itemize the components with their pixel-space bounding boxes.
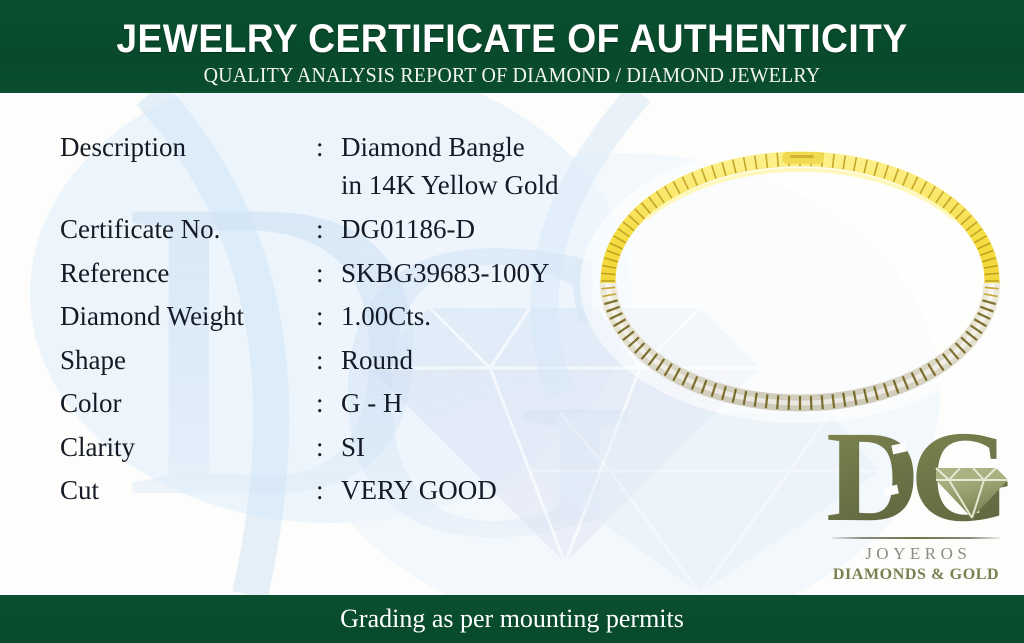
detail-row-certificate-no: Certificate No. : DG01186-D [60, 213, 620, 257]
logo-divider [832, 537, 1000, 539]
detail-separator: : [316, 474, 324, 507]
detail-row-shape: Shape : Round [60, 344, 620, 388]
detail-separator: : [316, 257, 324, 290]
detail-separator: : [316, 131, 324, 164]
detail-row-clarity: Clarity : SI [60, 431, 620, 475]
detail-label: Clarity [60, 431, 135, 464]
bangle-gold-band [608, 159, 992, 403]
page-title: JEWELRY CERTIFICATE OF AUTHENTICITY [36, 17, 988, 61]
dg-monogram: G D [818, 408, 1014, 536]
dg-logo: G D JOYEROS DIAMONDS & GOLD [818, 408, 1014, 586]
detail-value-line2: in 14K Yellow Gold [341, 169, 559, 202]
diamond-bangle-photo [576, 133, 1024, 423]
detail-value: SI [341, 431, 365, 464]
detail-list: Description : Diamond Bangle in 14K Yell… [60, 131, 620, 518]
detail-label: Reference [60, 257, 169, 290]
bangle-diamond-row [608, 281, 992, 403]
detail-value: 1.00Cts. [341, 300, 431, 333]
detail-row-reference: Reference : SKBG39683-100Y [60, 257, 620, 301]
detail-label: Certificate No. [60, 213, 220, 246]
detail-separator: : [316, 431, 324, 464]
detail-separator: : [316, 300, 324, 333]
detail-label: Description [60, 131, 186, 164]
detail-value: DG01186-D [341, 213, 475, 246]
detail-value: G - H [341, 387, 403, 420]
certificate-body: D G [0, 93, 1024, 595]
footer-note: Grading as per mounting permits [0, 603, 1024, 635]
detail-row-color: Color : G - H [60, 387, 620, 431]
logo-letter-d: D [826, 408, 920, 536]
detail-value: Diamond Bangle [341, 131, 525, 164]
logo-brand-name: JOYEROS [818, 544, 1014, 564]
detail-row-cut: Cut : VERY GOOD [60, 474, 620, 518]
detail-value: VERY GOOD [341, 474, 497, 507]
certificate-header: JEWELRY CERTIFICATE OF AUTHENTICITY QUAL… [0, 0, 1024, 93]
jewelry-certificate: JEWELRY CERTIFICATE OF AUTHENTICITY QUAL… [0, 0, 1024, 643]
detail-label: Cut [60, 474, 99, 507]
bangle-setting-ticks [601, 152, 999, 410]
detail-label: Shape [60, 344, 126, 377]
detail-row-diamond-weight: Diamond Weight : 1.00Cts. [60, 300, 620, 344]
detail-separator: : [316, 344, 324, 377]
detail-value: Round [341, 344, 413, 377]
detail-separator: : [316, 387, 324, 420]
detail-label: Color [60, 387, 122, 420]
detail-value: SKBG39683-100Y [341, 257, 550, 290]
bangle-clasp [782, 152, 824, 164]
detail-separator: : [316, 213, 324, 246]
detail-label: Diamond Weight [60, 300, 244, 333]
logo-tagline: DIAMONDS & GOLD [818, 566, 1014, 584]
certificate-footer: Grading as per mounting permits [0, 595, 1024, 643]
page-subtitle: QUALITY ANALYSIS REPORT OF DIAMOND / DIA… [26, 63, 999, 88]
detail-row-description: Description : Diamond Bangle in 14K Yell… [60, 131, 620, 175]
